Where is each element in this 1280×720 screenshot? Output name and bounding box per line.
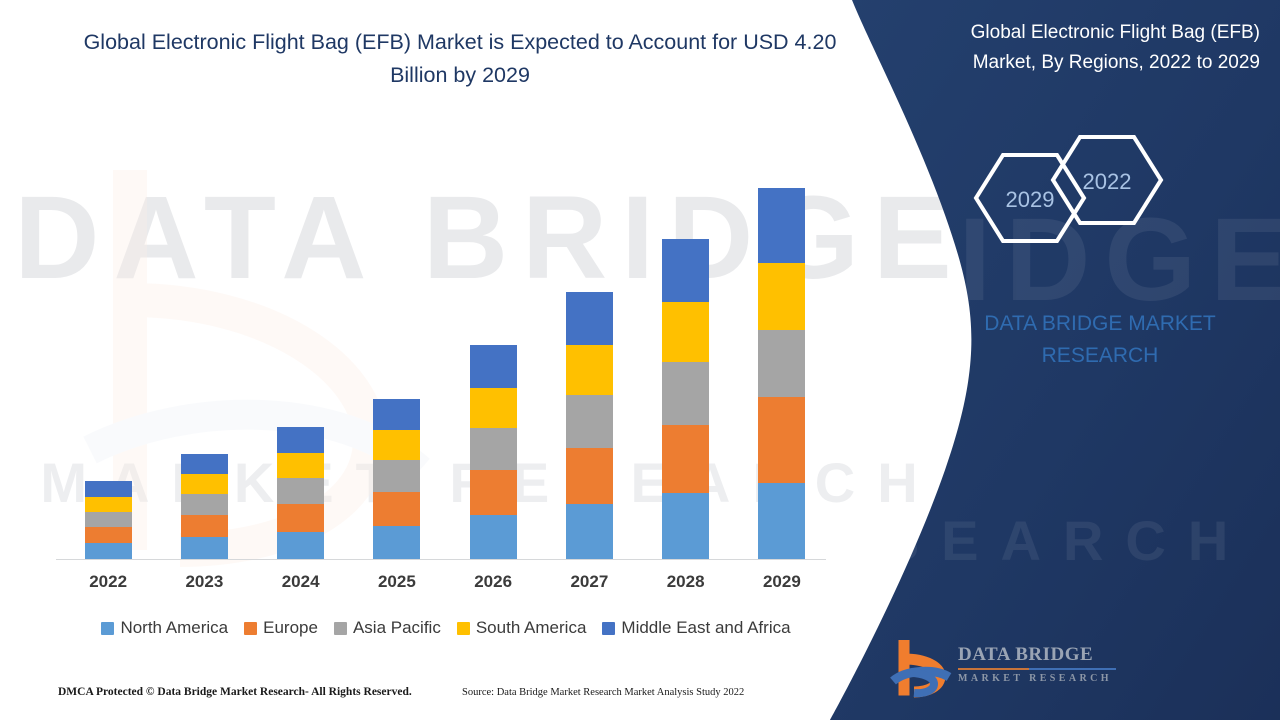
company-logo: DATA BRIDGE MARKET RESEARCH [890,640,1120,702]
bar-segment-2024-south-america [277,453,324,478]
bar-segment-2026-middle-east-and-africa [470,345,517,388]
bar-segment-2023-asia-pacific [181,494,228,515]
bar-segment-2029-asia-pacific [758,330,805,397]
legend-swatch-icon [101,622,114,635]
bar-segment-2025-middle-east-and-africa [373,399,420,430]
bar-segment-2025-europe [373,492,420,526]
x-axis-label-2028: 2028 [641,572,731,592]
bar-segment-2022-south-america [85,497,132,512]
bar-segment-2025-south-america [373,430,420,460]
x-axis-label-2026: 2026 [448,572,538,592]
bar-segment-2026-north-america [470,515,517,559]
bar-segment-2028-south-america [662,302,709,362]
x-axis-label-2022: 2022 [63,572,153,592]
infographic-canvas: DATA BRIDGE MARKET RESEARCH Global Elect… [0,0,1280,720]
bar-segment-2024-asia-pacific [277,478,324,504]
bar-segment-2025-north-america [373,526,420,559]
bar-segment-2028-europe [662,425,709,493]
bar-segment-2027-south-america [566,345,613,395]
logo-divider [958,668,1116,670]
bar-2024 [277,427,324,559]
legend-item-europe[interactable]: Europe [244,618,318,638]
bar-segment-2026-south-america [470,388,517,428]
bar-segment-2024-north-america [277,532,324,559]
data-bridge-logo-icon [890,640,952,698]
bar-2025 [373,399,420,559]
x-axis-labels: 20222023202420252026202720282029 [56,572,826,602]
bar-2026 [470,345,517,559]
bar-segment-2023-north-america [181,537,228,559]
hexagon-badges: 2029 2022 [940,135,1270,260]
x-axis-label-2027: 2027 [544,572,634,592]
x-axis-label-2023: 2023 [159,572,249,592]
bar-segment-2022-asia-pacific [85,512,132,527]
legend-label: South America [476,618,587,638]
bar-segment-2022-middle-east-and-africa [85,481,132,497]
legend-swatch-icon [244,622,257,635]
bar-segment-2028-asia-pacific [662,362,709,425]
panel-title: Global Electronic Flight Bag (EFB) Marke… [940,18,1260,78]
bar-segment-2023-south-america [181,474,228,494]
legend-label: Middle East and Africa [621,618,790,638]
bar-2027 [566,292,613,559]
brand-name-line-1: DATA BRIDGE MARKET [940,308,1260,340]
copyright-notice: DMCA Protected © Data Bridge Market Rese… [58,686,412,698]
bar-segment-2023-europe [181,515,228,537]
legend-item-middle-east-and-africa[interactable]: Middle East and Africa [602,618,790,638]
legend-item-south-america[interactable]: South America [457,618,587,638]
bar-2028 [662,239,709,559]
bar-segment-2022-north-america [85,543,132,559]
logo-line-2: MARKET RESEARCH [958,673,1118,684]
hex-2022-label: 2022 [1083,169,1132,194]
hex-2029-label: 2029 [1006,187,1055,212]
legend-label: Asia Pacific [353,618,441,638]
brand-name-line-2: RESEARCH [940,340,1260,372]
bar-2029 [758,188,805,559]
legend-item-north-america[interactable]: North America [101,618,228,638]
bar-segment-2022-europe [85,527,132,543]
brand-name: DATA BRIDGE MARKET RESEARCH [940,308,1260,372]
bar-segment-2028-north-america [662,493,709,559]
bar-segment-2027-asia-pacific [566,395,613,448]
bar-segment-2023-middle-east-and-africa [181,454,228,474]
bar-segment-2024-middle-east-and-africa [277,427,324,453]
stacked-bar-chart [56,150,826,560]
legend-swatch-icon [334,622,347,635]
legend-label: North America [120,618,228,638]
bar-segment-2025-asia-pacific [373,460,420,492]
legend-swatch-icon [602,622,615,635]
legend-item-asia-pacific[interactable]: Asia Pacific [334,618,441,638]
source-note: Source: Data Bridge Market Research Mark… [462,687,744,698]
x-axis-line [56,559,826,560]
bar-segment-2029-north-america [758,483,805,559]
bar-segment-2024-europe [277,504,324,532]
x-axis-label-2025: 2025 [352,572,442,592]
bar-segment-2026-europe [470,470,517,515]
bar-segment-2029-europe [758,397,805,483]
bar-2023 [181,454,228,559]
legend-label: Europe [263,618,318,638]
x-axis-label-2024: 2024 [256,572,346,592]
bar-segment-2027-middle-east-and-africa [566,292,613,345]
bar-2022 [85,481,132,559]
bar-segment-2029-middle-east-and-africa [758,188,805,263]
bar-segment-2027-north-america [566,504,613,559]
bar-segment-2028-middle-east-and-africa [662,239,709,302]
legend-swatch-icon [457,622,470,635]
chart-legend: North AmericaEuropeAsia PacificSouth Ame… [56,614,836,642]
bar-segment-2029-south-america [758,263,805,330]
page-title: Global Electronic Flight Bag (EFB) Marke… [60,26,860,92]
logo-wordmark: DATA BRIDGE MARKET RESEARCH [958,644,1118,684]
left-chart-panel: DATA BRIDGE MARKET RESEARCH Global Elect… [0,0,980,720]
bar-segment-2026-asia-pacific [470,428,517,470]
bar-segment-2027-europe [566,448,613,504]
right-panel-content: Global Electronic Flight Bag (EFB) Marke… [940,0,1280,720]
x-axis-label-2029: 2029 [737,572,827,592]
logo-line-1: DATA BRIDGE [958,644,1118,666]
